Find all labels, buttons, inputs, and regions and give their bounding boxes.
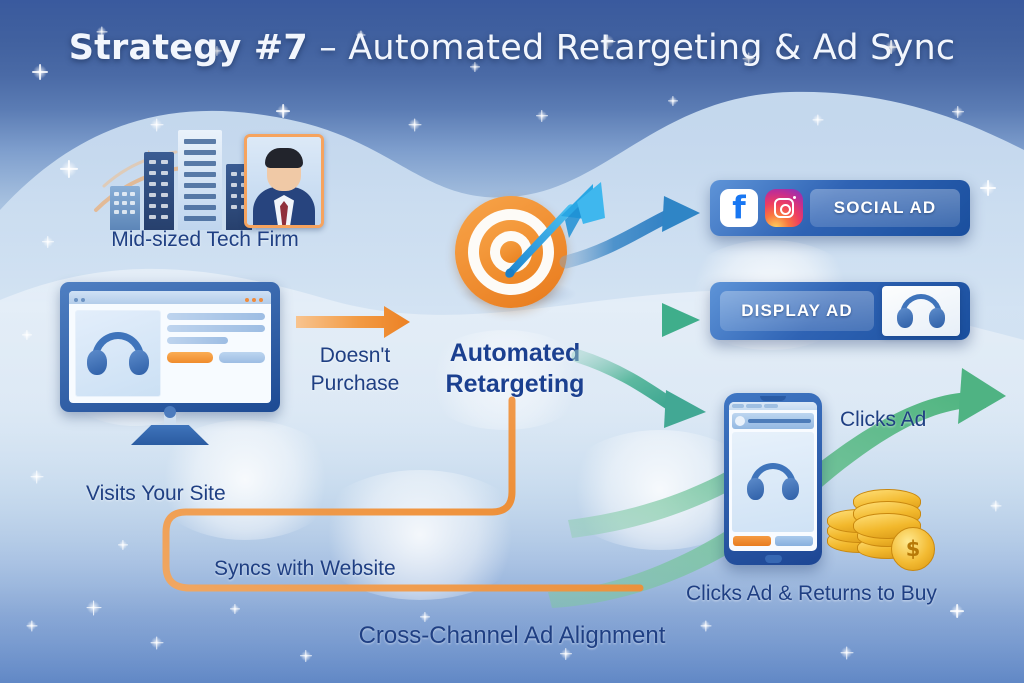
conversion-label: Clicks Ad & Returns to Buy bbox=[686, 582, 937, 606]
clicks-ad-label: Clicks Ad bbox=[840, 408, 926, 432]
instagram-icon bbox=[765, 189, 803, 227]
social-ad-label: SOCIAL AD bbox=[810, 189, 960, 227]
product-text-lines bbox=[167, 310, 265, 397]
building-icon bbox=[110, 186, 140, 230]
website-label: Visits Your Site bbox=[86, 482, 226, 506]
social-ad-card[interactable]: f SOCIAL AD bbox=[710, 180, 970, 236]
mobile-phone-illustration bbox=[724, 393, 822, 565]
dart-arrow-icon bbox=[497, 178, 607, 288]
building-icon bbox=[144, 152, 174, 230]
building-icon bbox=[178, 130, 222, 230]
headphones-icon bbox=[75, 310, 161, 397]
website-monitor-illustration bbox=[60, 282, 280, 442]
headphones-icon bbox=[732, 432, 814, 532]
title-rest: – Automated Retargeting & Ad Sync bbox=[308, 28, 955, 68]
mid-sized-tech-firm-illustration bbox=[110, 120, 320, 230]
phone-retargeted-ad bbox=[732, 413, 814, 429]
buy-button-mock bbox=[167, 352, 213, 363]
syncs-with-website-label: Syncs with Website bbox=[214, 557, 396, 581]
facebook-icon: f bbox=[720, 189, 758, 227]
infographic-canvas: Strategy #7 – Automated Retargeting & Ad… bbox=[0, 0, 1024, 683]
display-ad-label: DISPLAY AD bbox=[720, 291, 874, 331]
automated-retargeting-label: Automated Retargeting bbox=[404, 338, 626, 401]
cross-channel-alignment-label: Cross-Channel Ad Alignment bbox=[262, 622, 762, 650]
title-bold: Strategy #7 bbox=[69, 28, 308, 68]
page-title: Strategy #7 – Automated Retargeting & Ad… bbox=[0, 28, 1024, 68]
dollar-sign-icon: $ bbox=[892, 528, 934, 570]
secondary-button-mock bbox=[219, 352, 265, 363]
headphones-thumbnail-icon bbox=[882, 286, 960, 336]
phone-secondary-button-mock bbox=[775, 536, 813, 546]
businessman-portrait-icon bbox=[244, 134, 324, 228]
phone-buy-button-mock bbox=[733, 536, 771, 546]
firm-label: Mid-sized Tech Firm bbox=[60, 228, 350, 252]
gold-coins-icon: $ bbox=[827, 485, 945, 567]
doesnt-purchase-label: Doesn't Purchase bbox=[296, 342, 414, 399]
display-ad-card[interactable]: DISPLAY AD bbox=[710, 282, 970, 340]
browser-bar bbox=[69, 291, 271, 304]
phone-browser-bar bbox=[729, 402, 817, 410]
